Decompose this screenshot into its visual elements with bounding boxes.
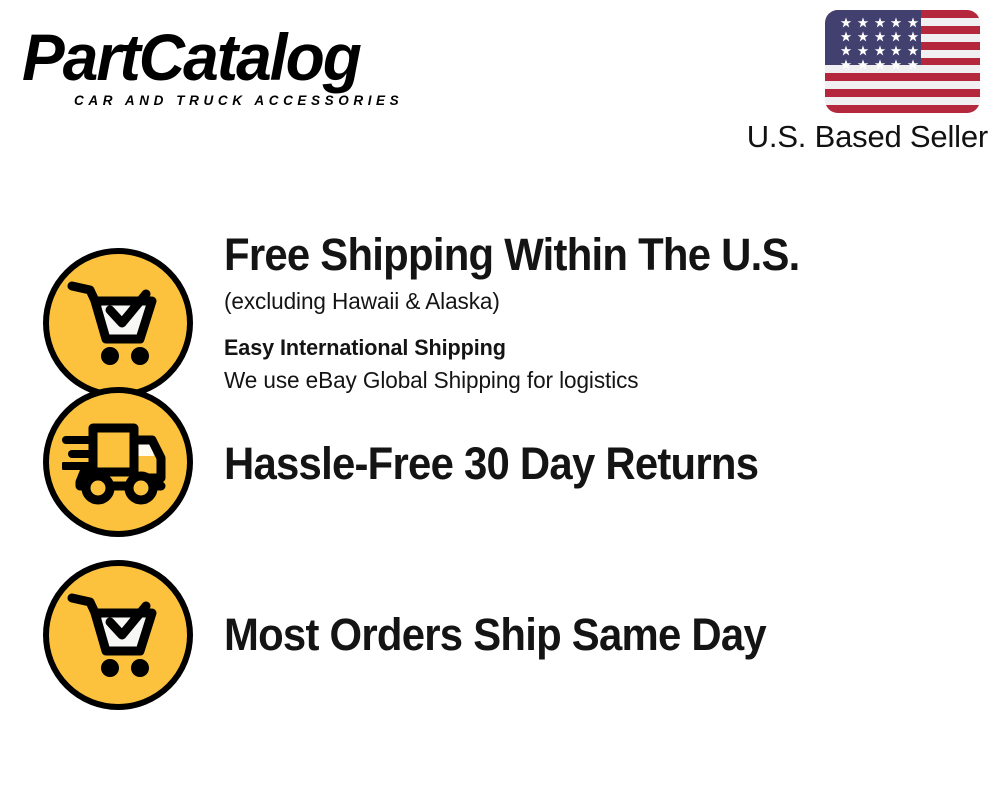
shopping-cart-check-icon [43, 560, 193, 710]
flag-stripe [825, 105, 980, 113]
feature-text-block: Hassle-Free 30 Day Returns [193, 365, 1000, 490]
banner-header: PartCatalog CAR AND TRUCK ACCESSORIES [0, 0, 1000, 175]
feature-item-returns: Hassle-Free 30 Day Returns [0, 365, 1000, 540]
feature-subheading: Easy International Shipping [224, 333, 969, 363]
brand-wordmark: PartCatalog [22, 22, 478, 92]
feature-list: Free Shipping Within The U.S. (excluding… [0, 195, 1000, 710]
feature-item-free-shipping: Free Shipping Within The U.S. (excluding… [0, 195, 1000, 365]
feature-item-same-day-ship: Most Orders Ship Same Day [0, 540, 1000, 710]
feature-text-block: Most Orders Ship Same Day [193, 540, 1000, 661]
flag-stripe [825, 73, 980, 81]
brand-logo: PartCatalog CAR AND TRUCK ACCESSORIES [22, 22, 492, 117]
delivery-truck-icon [43, 387, 193, 537]
feature-title: Hassle-Free 30 Day Returns [224, 438, 946, 490]
feature-title: Most Orders Ship Same Day [224, 609, 946, 661]
flag-stripe [825, 81, 980, 89]
flag-stripe [825, 89, 980, 97]
promo-banner: PartCatalog CAR AND TRUCK ACCESSORIES [0, 0, 1000, 800]
flag-canton [825, 10, 921, 65]
flag-stripe [825, 97, 980, 105]
us-based-seller-badge: U.S. Based Seller [708, 10, 988, 155]
brand-tagline: CAR AND TRUCK ACCESSORIES [74, 93, 492, 108]
us-based-seller-label: U.S. Based Seller [747, 119, 988, 155]
flag-star-grid [832, 17, 915, 59]
feature-title: Free Shipping Within The U.S. [224, 229, 946, 281]
us-flag-icon [825, 10, 980, 113]
feature-subtext: (excluding Hawaii & Alaska) [224, 286, 969, 316]
